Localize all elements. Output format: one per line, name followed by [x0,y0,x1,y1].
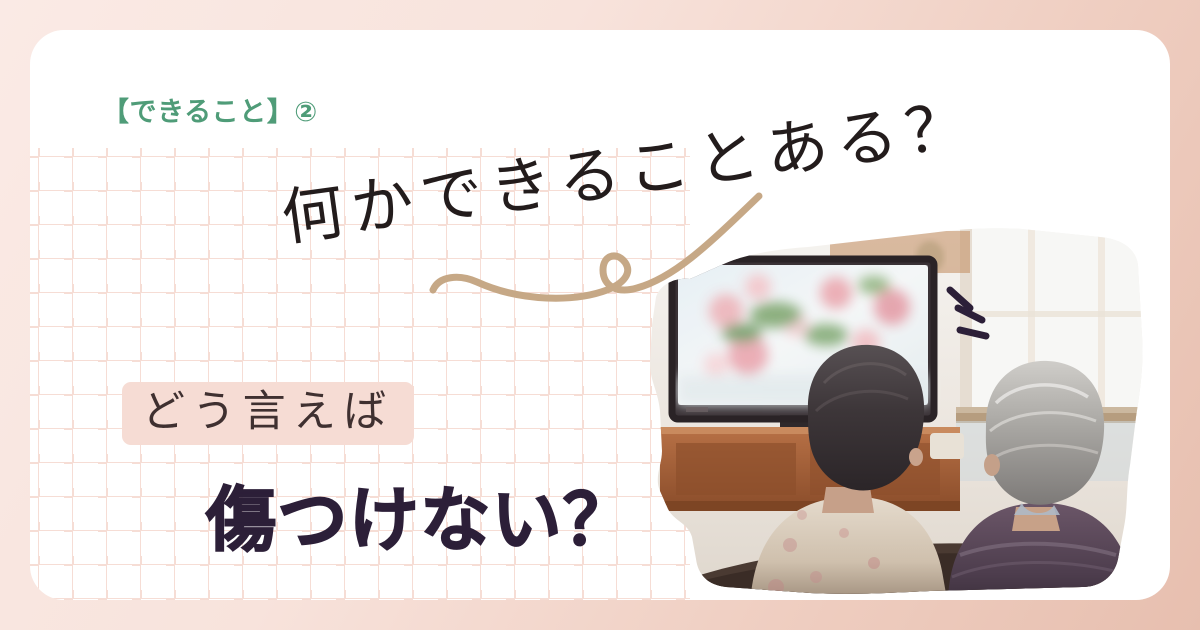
punch-line: 傷つけない？ [206,485,634,555]
person-right-hair [986,361,1104,505]
person-left-hair [808,345,924,491]
highlight-phrase: どう言えば [122,382,414,445]
content-card: 【できること】② 何かできることある？ どう言えば [30,30,1170,600]
highlight-phrase-box: どう言えば [122,382,414,445]
photo-elderly-couple-watching-tv [630,215,1150,600]
kicker-label: 【できること】② [102,90,318,129]
highlight-phrase-text: どう言えば [142,387,394,437]
poster-canvas: 【できること】② 何かできることある？ どう言えば [0,0,1200,630]
